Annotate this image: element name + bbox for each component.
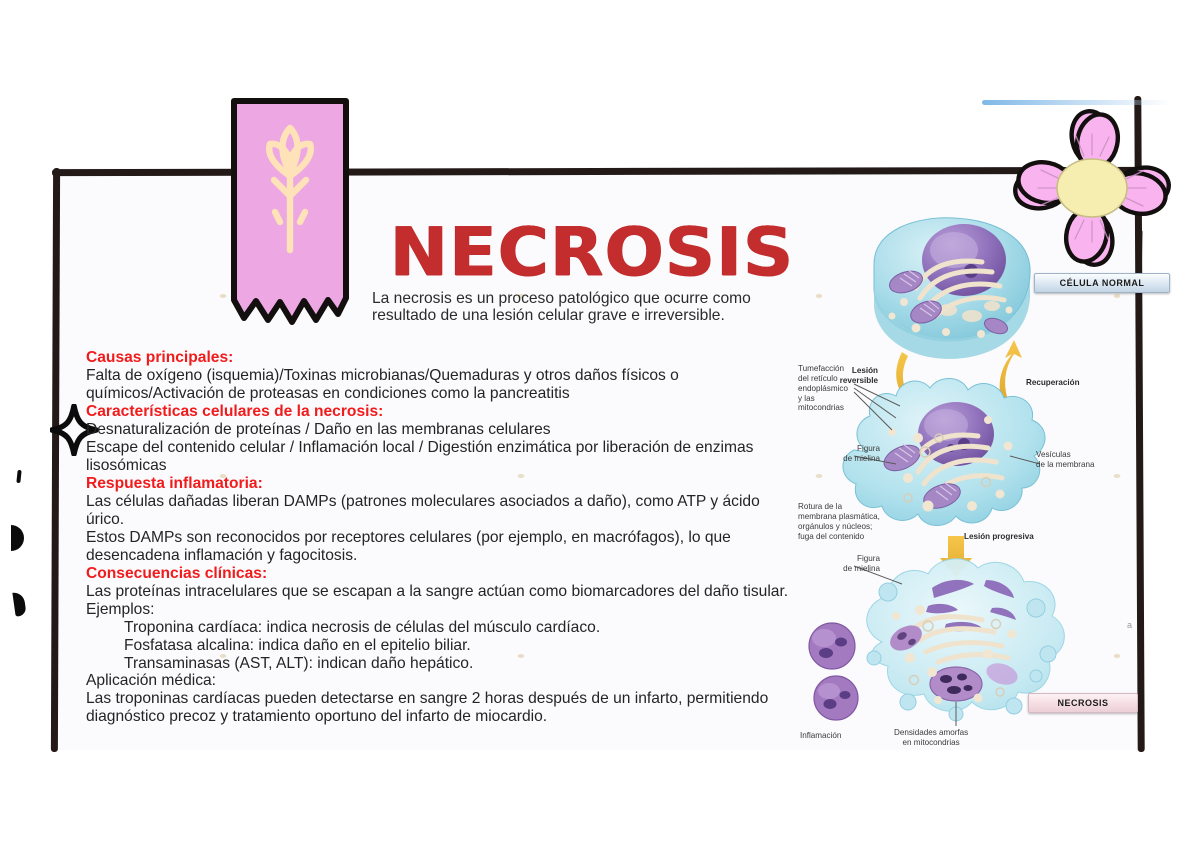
ribbon-banner (230, 98, 350, 336)
section-text-respuesta-2: Estos DAMPs son reconocidos por receptor… (86, 529, 800, 565)
section-heading-respuesta: Respuesta inflamatoria: (86, 475, 800, 493)
edge-sticker-fragment-half-circle (11, 525, 24, 551)
diagram-label-rotura-membrana: Rotura de la membrana plasmática, orgánu… (798, 502, 880, 541)
section-text-ejemplos-label: Ejemplos: (86, 601, 800, 619)
example-item-transaminasas: Transaminasas (AST, ALT): indican daño h… (86, 655, 800, 673)
section-text-consecuencias-1: Las proteínas intracelulares que se esca… (86, 583, 800, 601)
title-block: NECROSIS La necrosis es un proceso patol… (372, 222, 812, 325)
section-heading-causas: Causas principales: (86, 349, 800, 367)
section-heading-caracteristicas: Características celulares de la necrosis… (86, 403, 800, 421)
cell-injury-diagram: Lesión reversible Recuperación Tumefacci… (796, 206, 1144, 752)
section-text-causas: Falta de oxígeno (isquemia)/Toxinas micr… (86, 367, 800, 403)
diagram-label-densidades-amorfas: Densidades amorfas en mitocondrias (894, 728, 968, 748)
section-text-aplicacion-label: Aplicación médica: (86, 672, 800, 690)
example-item-troponina: Troponina cardíaca: indica necrosis de c… (86, 619, 800, 637)
arrow-recovery (1000, 340, 1022, 402)
section-text-respuesta-1: Las células dañadas liberan DAMPs (patro… (86, 493, 800, 529)
blue-gradient-streak (982, 100, 1172, 105)
diagram-box-celula-normal: CÉLULA NORMAL (1034, 273, 1170, 293)
normal-cell-illustration (874, 218, 1030, 359)
diagram-box-necrosis: NECROSIS (1028, 693, 1138, 713)
diagram-label-inflamacion: Inflamación (800, 731, 841, 741)
diagram-label-lesion-progresiva: Lesión progresiva (964, 532, 1034, 542)
diagram-label-tumefaccion: Tumefacción del retículo endoplásmico y … (798, 364, 848, 413)
body-content: Causas principales: Falta de oxígeno (is… (86, 349, 800, 726)
diagram-label-figura-mielina-top: Figura de mielina (818, 444, 880, 464)
diagram-label-figura-mielina-bottom: Figura de mielina (818, 554, 880, 574)
section-text-caracteristicas-2: Escape del contenido celular / Inflamaci… (86, 439, 800, 475)
example-item-fosfatasa: Fosfatasa alcalina: indica daño en el ep… (86, 637, 800, 655)
page-subtitle: La necrosis es un proceso patológico que… (372, 290, 812, 326)
section-text-aplicacion-body: Las troponinas cardíacas pueden detectar… (86, 690, 800, 726)
inflammatory-cells (809, 623, 858, 720)
diagram-label-vesiculas-membrana: Vesículas de la membrana (1036, 450, 1095, 470)
edge-sticker-fragment-dash (16, 470, 21, 483)
page-title: NECROSIS (363, 222, 821, 284)
necrotic-cell-illustration (809, 559, 1064, 721)
section-heading-consecuencias: Consecuencias clínicas: (86, 565, 800, 583)
edge-sticker-fragment-teardrop (12, 591, 26, 616)
stray-character: a (1127, 620, 1132, 630)
diagram-label-recuperacion: Recuperación (1026, 378, 1080, 388)
section-text-caracteristicas-1: Desnaturalización de proteínas / Daño en… (86, 421, 800, 439)
